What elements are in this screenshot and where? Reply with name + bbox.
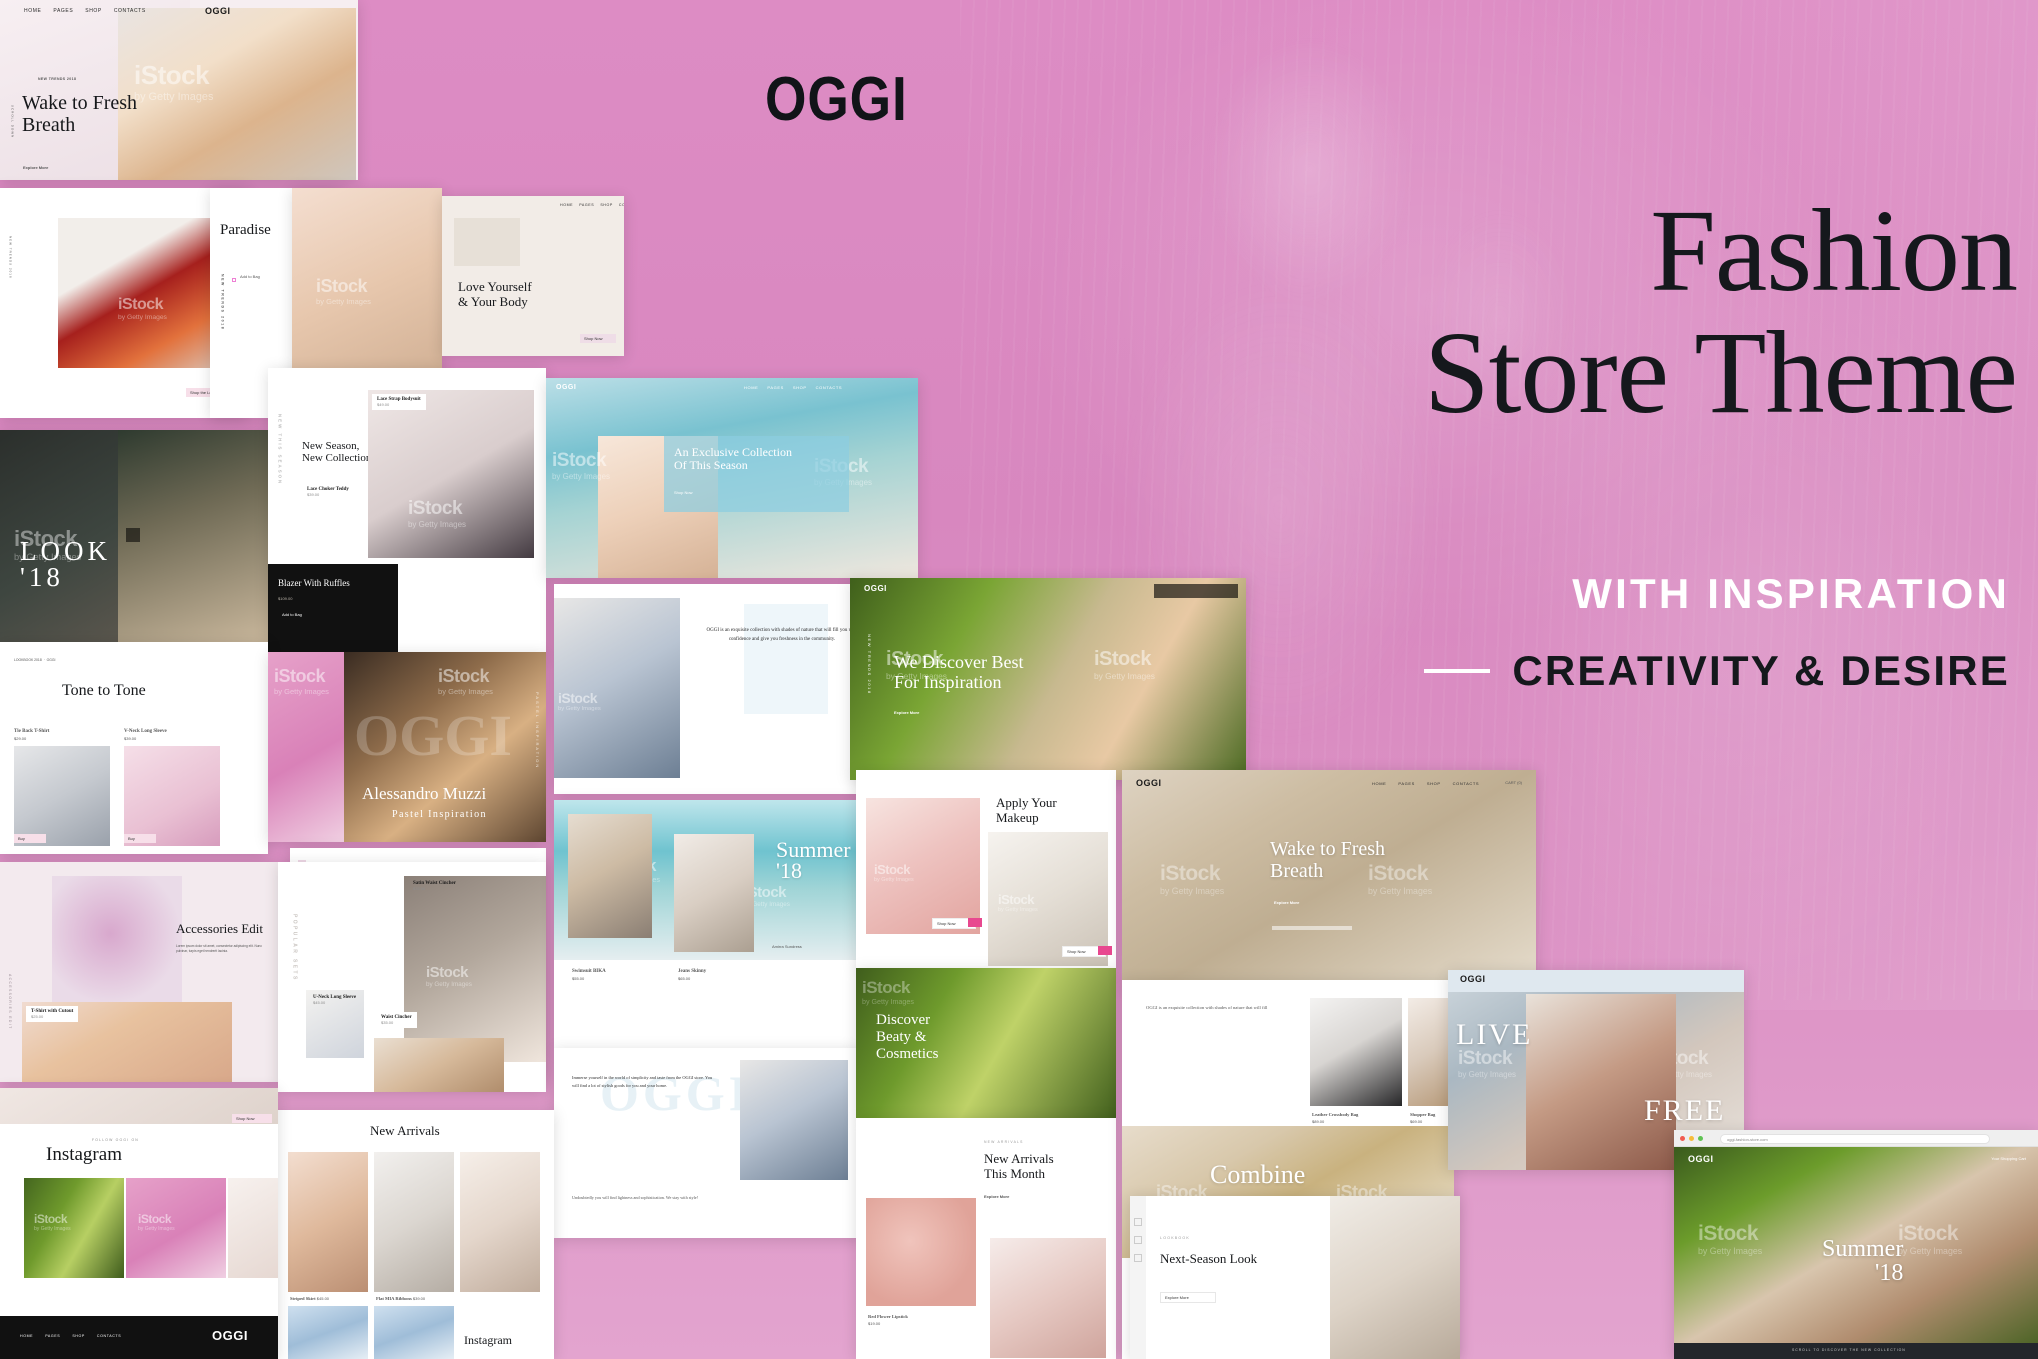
mockup-new-arrivals-grid[interactable]: New Arrivals Striped Skirt $45.00 Flat M… <box>274 1110 554 1359</box>
product-price-1: Satin Waist Cincher$35.00 <box>408 878 461 894</box>
editorial-subtitle: Pastel Inspiration <box>392 809 487 820</box>
section-title: Tone to Tone <box>62 682 146 700</box>
rail-icon-1[interactable] <box>1134 1218 1142 1226</box>
ig-photo-3[interactable] <box>228 1178 278 1278</box>
mockup-exclusive-collection[interactable]: iStockby Getty Images iStockby Getty Ima… <box>546 378 918 578</box>
browser-chrome: oggi-fashion-store.com <box>1674 1130 2038 1147</box>
watermark: iStockby Getty Images <box>862 978 914 1006</box>
mockup-wake-browser[interactable]: iStockby Getty Images iStockby Getty Ima… <box>1122 770 1536 988</box>
model-photo: iStockby Getty Images <box>554 598 680 778</box>
nav-links[interactable]: HOME PAGES SHOP CONTACTS <box>1372 781 1479 786</box>
scroll-label: SCROLL DOWN <box>10 105 15 138</box>
watermark: iStockby Getty Images <box>408 498 466 529</box>
mockup-look-18[interactable]: iStockby Getty Images LOOK '18 <box>0 430 268 642</box>
buy-button-2[interactable]: Buy <box>124 834 156 843</box>
product-photo-3[interactable] <box>460 1152 540 1292</box>
accent-swatch-1 <box>968 918 982 927</box>
cta-link[interactable]: Explore More <box>894 710 919 716</box>
mockup-summer-browser[interactable]: oggi-fashion-store.com iStockby Getty Im… <box>1674 1130 2038 1359</box>
eyebrow: NEW TRENDS 2018 <box>38 77 76 82</box>
section-title: Next-Season Look <box>1160 1252 1257 1267</box>
watermark: iStockby Getty Images <box>316 276 371 306</box>
close-icon[interactable] <box>1680 1136 1685 1141</box>
watermark: iStockby Getty Images <box>874 862 914 883</box>
nav-shop[interactable]: SHOP <box>85 8 102 14</box>
accent-swatch-2 <box>1098 946 1112 955</box>
page-title: Fashion Store Theme <box>1017 190 2017 433</box>
side-label: ACCESSORIES EDIT <box>7 974 12 1030</box>
model-photo-1 <box>568 814 652 938</box>
product-photo-4[interactable] <box>288 1306 368 1359</box>
about-body: Immerse yourself in the world of simplic… <box>572 1074 720 1091</box>
product-photo-bag[interactable] <box>1310 998 1402 1106</box>
bullet-icon <box>232 278 236 282</box>
model-photo <box>740 1060 848 1180</box>
brand-logo: OGGI <box>765 64 908 135</box>
tagline-divider <box>1424 669 1490 673</box>
mockup-logo: OGGI <box>1460 974 1486 984</box>
watermark-2: iStockby Getty Images <box>1094 648 1155 681</box>
mockup-new-arrivals-month[interactable]: NEW ARRIVALS New Arrivals This Month Red… <box>856 1118 1116 1359</box>
live-word: LIVE <box>1456 1018 1532 1052</box>
product-label-2: Shopper Bag$69.00 <box>1410 1112 1435 1125</box>
watermark: iStockby Getty Images <box>426 964 472 988</box>
cta-link[interactable]: Explore More <box>1274 900 1299 906</box>
eyebrow: FOLLOW OGGI ON <box>92 1138 139 1143</box>
footer-logo: OGGI <box>212 1328 248 1343</box>
mockup-discover-beauty[interactable]: iStockby Getty Images Discover Beaty & C… <box>856 968 1116 1118</box>
about-footer: Undoubtedly you will find lightness and … <box>572 1194 722 1202</box>
mockup-new-season[interactable]: NEW THIS SEASON New Season, New Collecti… <box>268 368 546 658</box>
play-icon[interactable] <box>126 528 140 542</box>
product-photo-2[interactable] <box>374 1152 454 1292</box>
section-title: New Season, New Collection <box>302 440 371 465</box>
intro-text: OGGI is an exquisite collection with sha… <box>1146 1004 1298 1013</box>
nav-contacts[interactable]: CONTACTS <box>114 8 146 14</box>
watermark-2: iStockby Getty Images <box>998 892 1038 913</box>
watermark: iStockby Getty Images <box>552 450 610 481</box>
nav-links[interactable]: HOME PAGES SHOP CONTACTS <box>24 8 146 14</box>
nav-pages[interactable]: PAGES <box>53 8 73 14</box>
model-photo <box>1526 994 1676 1170</box>
decor-arch <box>744 604 828 714</box>
cta-link[interactable]: Explore More <box>984 1194 1009 1200</box>
banner-title: Discover Beaty & Cosmetics <box>876 1012 939 1062</box>
mockup-wake-to-fresh-breath[interactable]: iStockby Getty Images HOME PAGES SHOP CO… <box>0 0 358 180</box>
nav-links[interactable]: HOME PAGES SHOP CONTACTS <box>744 385 842 390</box>
product-price-2: Waist Cincher$35.00 <box>376 1012 417 1028</box>
watermark: iStockby Getty Images <box>558 690 601 712</box>
headline-line-1: Fashion <box>1017 190 2017 312</box>
product-price-3: U-Neck Long Sleeve$45.00 <box>308 992 361 1008</box>
product-photo-1[interactable] <box>14 746 110 846</box>
mockup-about-brand[interactable]: iStockby Getty Images OGGI is an exquisi… <box>554 584 864 794</box>
free-word: FREE <box>1644 1094 1725 1128</box>
caption: Amirra Sundress <box>772 944 802 950</box>
watermark-2: iStockby Getty Images <box>1898 1222 1962 1256</box>
eyebrow: NEW ARRIVALS <box>984 1140 1024 1145</box>
look-title: LOOK '18 <box>20 536 111 592</box>
product-photo-5[interactable] <box>374 1306 454 1359</box>
lookbook-photo <box>1330 1196 1460 1359</box>
intro-text: LOOKBOOK 2018 · OGGI <box>14 658 55 663</box>
accessory-photo <box>52 876 182 1004</box>
cta-link[interactable]: Explore More <box>23 165 48 171</box>
section-title: Apply Your Makeup <box>996 796 1057 825</box>
product-photo-1[interactable] <box>866 1198 976 1306</box>
product-price-2: Lace Strap Bodysuit$49.00 <box>372 394 426 410</box>
product-label-1: Leather Crossbody Bag$89.00 <box>1312 1112 1358 1125</box>
product-price-1: Lace Choker Teddy$39.00 <box>302 484 354 500</box>
watermark-2: iStockby Getty Images <box>138 1212 175 1232</box>
product-photo-2[interactable] <box>990 1238 1106 1358</box>
side-label: POPULAR SETS <box>290 914 298 982</box>
ig-photo-1[interactable]: iStockby Getty Images <box>24 1178 124 1278</box>
footer-nav[interactable]: HOME PAGES SHOP CONTACTS <box>20 1334 121 1338</box>
slider-dots[interactable] <box>1272 926 1352 930</box>
combine-word: Combine <box>1210 1160 1305 1189</box>
mockup-alessandro-muzzi[interactable]: iStockby Getty Images iStockby Getty Ima… <box>268 652 546 842</box>
love-yourself-title: Love Yourself & Your Body <box>458 280 532 309</box>
shop-link[interactable]: Shop Now <box>232 1114 272 1123</box>
section-title: New Arrivals <box>370 1124 440 1139</box>
look-photo <box>118 430 268 642</box>
model-photo-2 <box>674 834 754 952</box>
watermark: iStockby Getty Images <box>34 1212 71 1232</box>
product-photo-2[interactable] <box>124 746 220 846</box>
summer-title: Summer '18 <box>776 840 851 882</box>
mockup-logo: OGGI <box>1688 1154 1714 1164</box>
eyebrow: LOOKBOOK <box>1160 1236 1190 1241</box>
url-bar[interactable]: oggi-fashion-store.com <box>1720 1134 1990 1144</box>
product-label-1: Striped Skirt $45.00 <box>290 1296 329 1303</box>
rail-icon-2[interactable] <box>1134 1236 1142 1244</box>
poster-canvas: OGGI Fashion Store Theme WITH INSPIRATIO… <box>0 0 2038 1359</box>
product-photo-1[interactable] <box>288 1152 368 1292</box>
product-label-1: Tie Back T-Shirt$29.00 <box>14 728 114 742</box>
watermark: iStockby Getty Images <box>1698 1222 1762 1256</box>
nav-links[interactable]: HOME PAGES SHOP CONTACTS <box>560 203 624 207</box>
cart-label[interactable]: Your Shopping Cart <box>1991 1156 2026 1162</box>
banner-title: We Discover Best For Inspiration <box>894 652 1024 692</box>
watermark: iStockby Getty Images <box>1160 862 1224 896</box>
mockup-instagram[interactable]: Shop Now FOLLOW OGGI ON Instagram iStock… <box>0 1088 278 1359</box>
mockup-summer-18[interactable]: iStockby Getty Images iStockby Getty Ima… <box>554 800 864 1050</box>
add-to-bag-label[interactable]: Add to Bag <box>240 274 260 280</box>
product-label-2: Jeans Skinny$65.00 <box>678 968 706 982</box>
side-label: NEW TRENDS 2018 <box>219 274 224 330</box>
browser-bar <box>1448 970 1744 992</box>
shop-now-link[interactable]: Shop Now <box>674 490 692 496</box>
product-label-2: Flat MIA Ribbons $39.00 <box>376 1296 425 1303</box>
instagram-title: Instagram <box>46 1144 122 1165</box>
side-label: NEW TRENDS 2018 <box>8 236 13 279</box>
tagline-secondary: CREATIVITY & DESIRE <box>1512 647 2010 695</box>
mockup-popular-sets[interactable]: POPULAR SETS iStockby Getty Images Satin… <box>278 862 546 1092</box>
product-card-dark[interactable]: Blazer With Ruffles $109.00 Add to Bag <box>268 564 398 658</box>
hero-title: Summer '18 <box>1822 1238 1903 1285</box>
watermark-2: iStockby Getty Images <box>438 666 493 696</box>
mockup-oggi-text[interactable]: OGGI Immerse yourself in the world of si… <box>554 1048 864 1238</box>
mockup-logo: OGGI <box>556 384 576 391</box>
side-label: PASTEL INSPIRATION <box>534 692 540 769</box>
add-to-bag-button[interactable]: Add to Bag <box>282 612 302 618</box>
cart-label[interactable]: CART (0) <box>1505 780 1522 786</box>
mockup-next-season[interactable]: LOOKBOOK Next-Season Look Explore More <box>1130 1196 1460 1359</box>
product-label-1: Swimsuit BIKA$55.00 <box>572 968 606 982</box>
watermark: iStockby Getty Images <box>118 296 167 321</box>
ghost-title: OGGI <box>600 1064 752 1122</box>
mockup-apply-makeup[interactable]: iStockby Getty Images Apply Your Makeup … <box>856 770 1116 970</box>
mockup-logo: OGGI <box>864 584 887 593</box>
side-label: NEW TRENDS 2018 <box>866 634 872 695</box>
footer-label: SCROLL TO DISCOVER THE NEW COLLECTION <box>1792 1348 1906 1353</box>
ig-photo-2[interactable]: iStockby Getty Images <box>126 1178 226 1278</box>
mockup-logo: OGGI <box>1136 778 1162 788</box>
section-title: Accessories Edit <box>176 922 263 937</box>
buy-button-1[interactable]: Buy <box>14 834 46 843</box>
mockup-tone-to-tone[interactable]: LOOKBOOK 2018 · OGGI Tone to Tone Tie Ba… <box>0 642 268 854</box>
editorial-title: Alessandro Muzzi <box>362 784 486 803</box>
section-title: New Arrivals This Month <box>984 1152 1054 1181</box>
watermark: iStockby Getty Images <box>274 666 329 696</box>
ghost-logo: OGGI <box>354 702 512 769</box>
maximize-icon[interactable] <box>1698 1136 1703 1141</box>
hero-title: Wake to Fresh Breath <box>22 92 262 137</box>
collection-title: An Exclusive Collection Of This Season <box>674 446 792 473</box>
nav-home[interactable]: HOME <box>24 8 41 14</box>
decor-block <box>454 218 520 266</box>
side-label: NEW THIS SEASON <box>276 414 283 485</box>
footer-title: Instagram <box>464 1334 512 1347</box>
product-photo-main: iStockby Getty Images <box>404 876 546 1062</box>
shop-now-button[interactable]: Shop Now <box>580 334 616 343</box>
product-photo-lace: iStockby Getty Images <box>368 390 534 558</box>
footer-bar: SCROLL TO DISCOVER THE NEW COLLECTION <box>1674 1343 2038 1359</box>
product-label-2: V-Neck Long Sleeve$39.00 <box>124 728 224 742</box>
paradise-title: Paradise <box>220 222 271 239</box>
beauty-photo: iStockby Getty Images <box>866 798 980 934</box>
header-pill[interactable] <box>1154 584 1238 598</box>
rail-icon-3[interactable] <box>1134 1254 1142 1262</box>
product-price-1: T-Shirt with Cutout$25.00 <box>26 1006 78 1022</box>
section-body: Lorem ipsum dolor sit amet, consectetur … <box>176 944 268 954</box>
product-label-1: Red Flower Lipstick$19.00 <box>868 1314 908 1327</box>
footer-bar: HOME PAGES SHOP CONTACTS OGGI <box>0 1316 278 1359</box>
product-photo-3 <box>374 1038 504 1092</box>
hero-title: Wake to Fresh Breath <box>1270 838 1385 883</box>
mockup-logo: OGGI <box>205 6 231 16</box>
cta-button[interactable]: Explore More <box>1160 1292 1216 1303</box>
mockup-we-discover-best[interactable]: iStockby Getty Images iStockby Getty Ima… <box>850 578 1246 780</box>
mockup-accessories-edit[interactable]: Accessories Edit Lorem ipsum dolor sit a… <box>0 862 278 1082</box>
about-paragraph: OGGI is an exquisite collection with sha… <box>706 626 858 644</box>
minimize-icon[interactable] <box>1689 1136 1694 1141</box>
headline-line-2: Store Theme <box>1017 312 2017 434</box>
watermark: iStockby Getty Images <box>1458 1048 1516 1079</box>
mockup-love-yourself[interactable]: HOME PAGES SHOP CONTACTS Love Yourself &… <box>442 196 624 356</box>
